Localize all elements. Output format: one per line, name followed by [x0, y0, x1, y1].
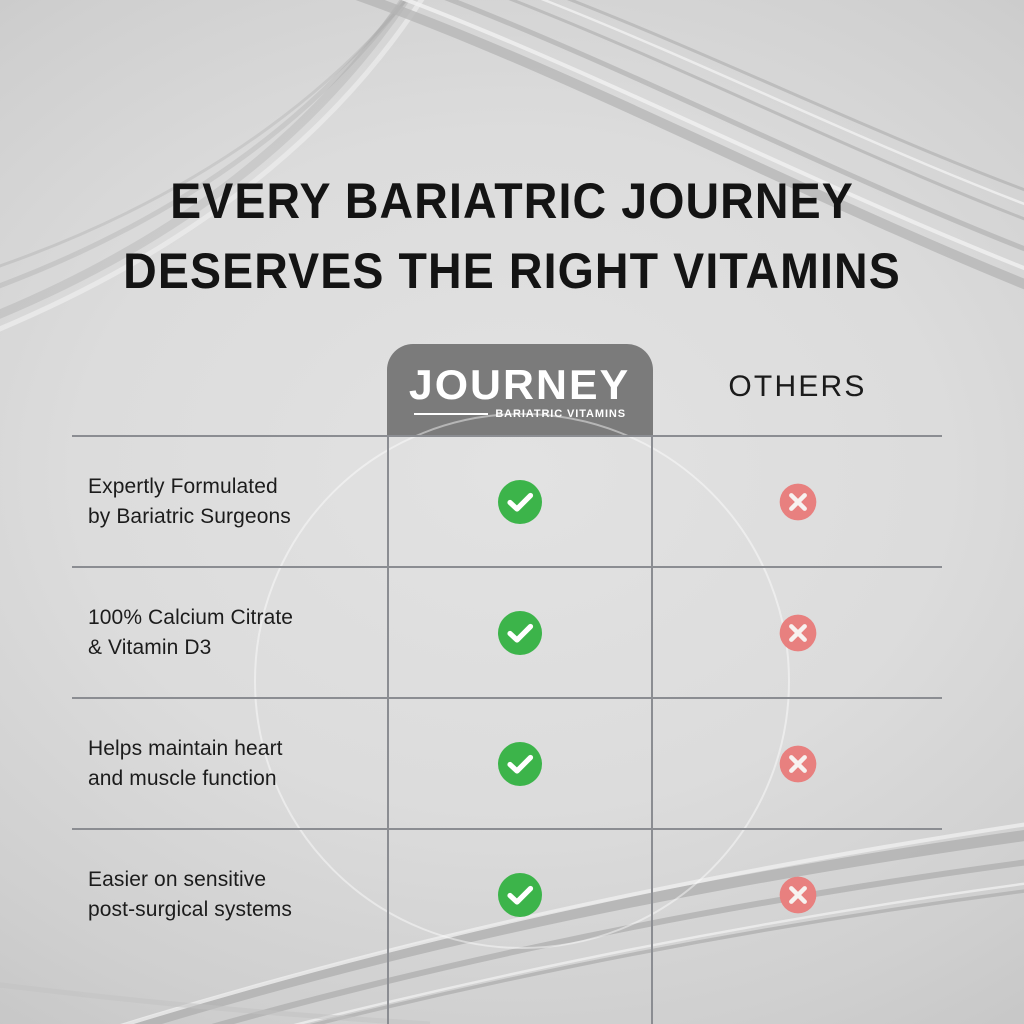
feature-label: 100% Calcium Citrate & Vitamin D3 [72, 603, 387, 663]
comparison-infographic: EVERY BARIATRIC JOURNEY DESERVES THE RIG… [0, 0, 1024, 1024]
feature-line-1: 100% Calcium Citrate [88, 606, 293, 629]
table-header-row: JOURNEY BARIATRIC VITAMINS OTHERS [72, 340, 942, 435]
column-divider-right [651, 435, 653, 1024]
feature-line-2: by Bariatric Surgeons [88, 505, 291, 528]
check-circle-icon [496, 478, 544, 526]
feature-label: Easier on sensitive post-surgical system… [72, 865, 387, 925]
table-body: Expertly Formulated by Bariatric Surgeon… [72, 435, 942, 959]
journey-cell [387, 609, 653, 657]
check-circle-icon [496, 609, 544, 657]
page-title: EVERY BARIATRIC JOURNEY DESERVES THE RIG… [36, 166, 988, 306]
journey-logo-tagline: BARIATRIC VITAMINS [495, 408, 626, 420]
cross-circle-icon [778, 482, 818, 522]
journey-cell [387, 478, 653, 526]
table-row: Helps maintain heart and muscle function [72, 697, 942, 828]
headline-line-2: DESERVES THE RIGHT VITAMINS [36, 236, 988, 306]
feature-line-1: Easier on sensitive [88, 868, 266, 891]
feature-line-1: Expertly Formulated [88, 475, 278, 498]
table-row: 100% Calcium Citrate & Vitamin D3 [72, 566, 942, 697]
journey-logo-wordmark: JOURNEY [409, 364, 630, 406]
comparison-table: JOURNEY BARIATRIC VITAMINS OTHERS Expert… [72, 340, 942, 959]
feature-line-2: & Vitamin D3 [88, 636, 211, 659]
journey-logo-subline: BARIATRIC VITAMINS [414, 408, 626, 420]
logo-divider-rule [414, 413, 488, 415]
journey-cell [387, 871, 653, 919]
feature-line-1: Helps maintain heart [88, 737, 283, 760]
feature-line-2: and muscle function [88, 767, 277, 790]
feature-label: Helps maintain heart and muscle function [72, 734, 387, 794]
cross-circle-icon [778, 744, 818, 784]
others-cell [653, 613, 942, 653]
journey-brand-tab: JOURNEY BARIATRIC VITAMINS [387, 344, 653, 435]
others-cell [653, 482, 942, 522]
table-row: Expertly Formulated by Bariatric Surgeon… [72, 435, 942, 566]
check-circle-icon [496, 740, 544, 788]
others-column-header: OTHERS [653, 370, 942, 404]
table-row: Easier on sensitive post-surgical system… [72, 828, 942, 959]
headline-line-1: EVERY BARIATRIC JOURNEY [170, 173, 854, 229]
others-cell [653, 875, 942, 915]
cross-circle-icon [778, 613, 818, 653]
feature-line-2: post-surgical systems [88, 898, 292, 921]
journey-cell [387, 740, 653, 788]
cross-circle-icon [778, 875, 818, 915]
feature-label: Expertly Formulated by Bariatric Surgeon… [72, 472, 387, 532]
others-cell [653, 744, 942, 784]
check-circle-icon [496, 871, 544, 919]
column-divider-left [387, 435, 389, 1024]
